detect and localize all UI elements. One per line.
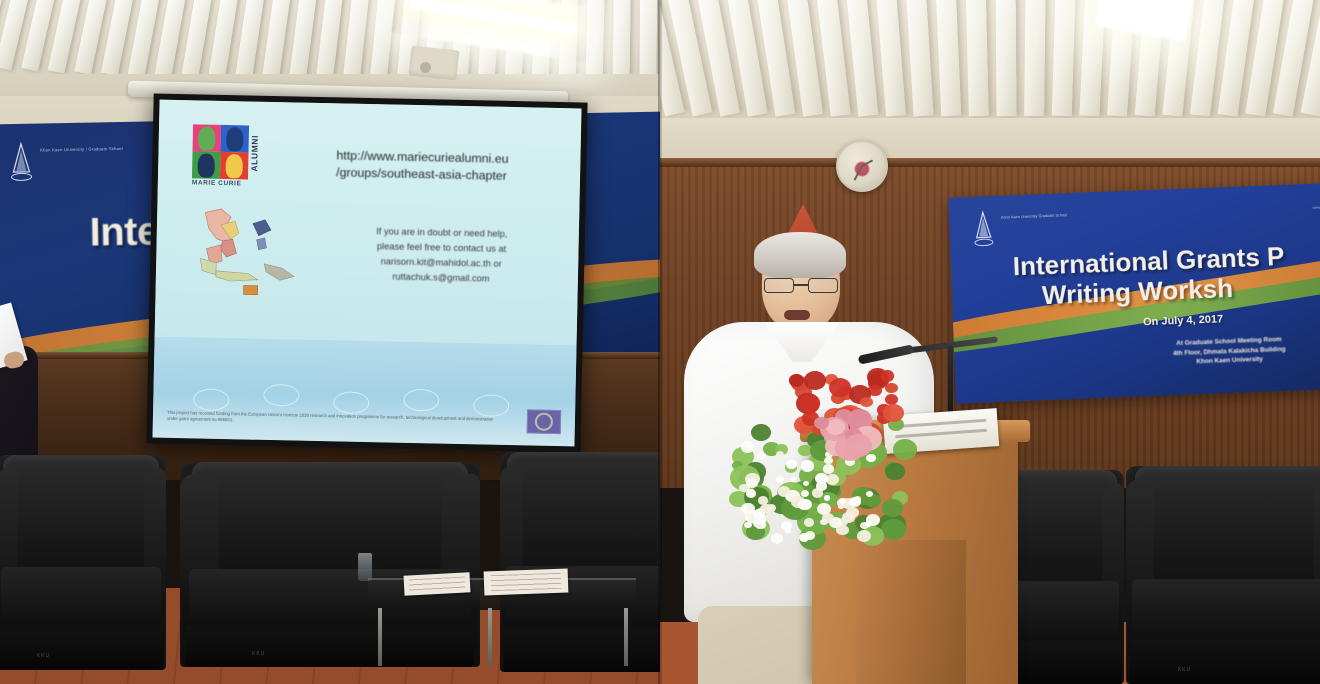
slide-url-text: http://www.mariecuriealumni.eu /groups/s… <box>336 147 567 185</box>
pink-flower <box>814 417 828 429</box>
white-flower <box>857 530 871 542</box>
sofa-center: KKU <box>180 462 480 667</box>
photo-split-seam <box>658 0 662 684</box>
white-flower <box>842 512 855 523</box>
white-flower <box>801 490 809 497</box>
white-flower <box>756 524 762 529</box>
logo-quadrant-red <box>220 152 249 180</box>
foliage-leaf <box>893 439 917 460</box>
logo-vertical-text: ALUMNI <box>249 127 263 181</box>
white-flower <box>776 476 784 483</box>
logo-quadrant-pink <box>193 124 222 152</box>
ceiling-joist <box>369 0 397 74</box>
white-flower <box>760 504 773 515</box>
ceiling-right <box>660 0 1320 126</box>
white-flower <box>745 510 760 522</box>
foliage-leaf <box>885 463 904 479</box>
right-banner-venue: At Graduate School Meeting Room 4th Floo… <box>1104 332 1320 370</box>
white-flower <box>816 481 827 491</box>
speaker-hair <box>754 232 846 278</box>
left-photo: Khon Kaen University / Graduate School I… <box>0 0 660 684</box>
speaker-description: Older man with grey hair, eyeglasses, wh… <box>676 206 677 207</box>
water-glass <box>358 553 372 581</box>
southeast-asia-map-icon <box>185 204 307 306</box>
sofa-right-photo: KKU <box>1126 466 1320 684</box>
wall-clock-icon <box>836 140 888 192</box>
white-flower <box>798 500 811 511</box>
right-banner-org-text: Khon Kaen University Graduate School <box>1001 213 1079 221</box>
white-flower <box>771 533 783 544</box>
marie-curie-alumni-logo: ALUMNI MARIE CURIE <box>192 124 265 191</box>
ceiling-joist <box>612 0 631 74</box>
slide-help-text: If you are in doubt or need help, please… <box>316 223 567 288</box>
ceiling-joist <box>965 0 989 116</box>
armchair-left: KKU <box>0 455 166 670</box>
projection-screen: ALUMNI MARIE CURIE http://www.ma <box>146 93 587 452</box>
slide-background-water <box>153 336 577 446</box>
logo-caption: MARIE CURIE <box>192 179 252 187</box>
white-flower <box>823 464 834 474</box>
ceiling-joist <box>315 0 345 74</box>
white-flower <box>801 460 814 471</box>
white-flower <box>824 495 830 500</box>
ceiling-joist <box>208 0 241 74</box>
white-flower <box>866 454 875 462</box>
white-flower <box>778 486 790 497</box>
pink-flower <box>845 434 872 457</box>
document-on-table <box>484 569 569 596</box>
ceiling-joist <box>235 0 267 74</box>
photo-composite: Khon Kaen University / Graduate School I… <box>0 0 1320 684</box>
right-banner-date: On July 4, 2017 <box>1143 313 1224 328</box>
ceiling-joist <box>904 0 933 116</box>
left-banner-org-text: Khon Kaen University / Graduate School <box>40 146 124 153</box>
logo-quadrant-green <box>192 151 221 179</box>
logo-quadrant-blue <box>221 125 250 153</box>
red-flower <box>860 397 873 408</box>
red-flower <box>885 383 898 394</box>
kku-crest-icon <box>8 142 35 184</box>
white-flower <box>741 441 755 453</box>
right-banner-url-text: www.gs.kku.ac.th <box>1269 205 1320 212</box>
red-flower <box>804 371 827 390</box>
projector-mount <box>409 46 460 81</box>
foliage-leaf <box>882 499 903 516</box>
ceiling-joist <box>935 0 962 116</box>
slide-surface: ALUMNI MARIE CURIE http://www.ma <box>153 100 582 447</box>
red-flower <box>829 378 851 397</box>
furniture-tag: KKU <box>1178 667 1191 673</box>
document-on-table <box>404 572 471 595</box>
speaker-mouth <box>784 310 810 320</box>
ceiling-joist <box>262 0 293 74</box>
logo-quadrants <box>192 124 249 179</box>
ceiling-joist <box>639 0 657 74</box>
ceiling-joist <box>995 0 1016 116</box>
red-flower <box>881 370 894 381</box>
right-photo: Khon Kaen University Graduate School www… <box>660 0 1320 684</box>
eyeglasses-icon <box>764 278 838 293</box>
foliage-leaf <box>881 519 906 540</box>
ceiling-joist <box>874 0 906 117</box>
white-flower <box>776 451 784 458</box>
ceiling-joist <box>1024 0 1046 116</box>
projector-lens-icon <box>420 62 431 73</box>
armchair-right <box>500 452 660 672</box>
ceiling-joist <box>1052 0 1076 116</box>
speaker-trousers <box>698 606 828 684</box>
white-flower <box>785 528 791 533</box>
ceiling-joist <box>288 0 319 74</box>
left-banner-title: Inte <box>89 209 159 255</box>
white-flower <box>786 460 796 469</box>
foliage-leaf <box>751 424 771 441</box>
ceiling-joist <box>342 0 371 74</box>
white-flower <box>757 452 766 460</box>
right-banner: Khon Kaen University Graduate School www… <box>948 182 1320 403</box>
furniture-tag: KKU <box>37 653 50 659</box>
white-flower <box>804 518 814 526</box>
eu-flag-icon <box>527 409 561 434</box>
flower-arrangement <box>720 358 910 538</box>
furniture-tag: KKU <box>252 651 265 657</box>
